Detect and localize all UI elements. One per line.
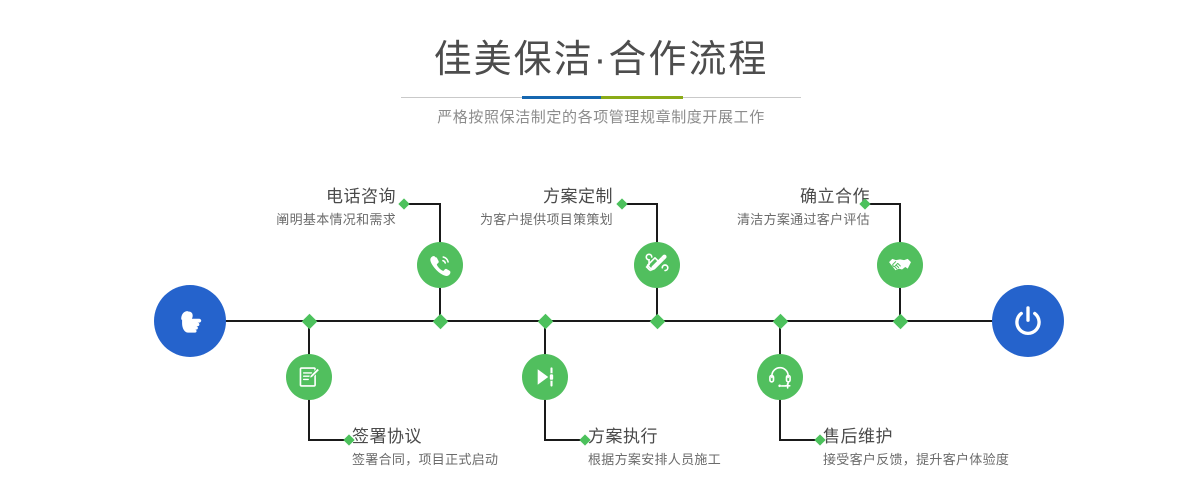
step-1-connector-horizontal [406, 203, 440, 205]
axis-marker-2 [432, 313, 448, 329]
step-6-title: 售后维护 [823, 426, 1009, 448]
document-sign-icon [296, 364, 322, 390]
step-4-title: 方案执行 [588, 426, 721, 448]
step-3-label: 方案定制 为客户提供项目策策划 [480, 186, 613, 231]
page-title: 佳美保洁·合作流程 [0, 36, 1202, 84]
timeline-start-endpoint[interactable] [154, 285, 226, 357]
step-5-title: 确立合作 [737, 186, 870, 208]
step-1-label-marker [398, 198, 409, 209]
page-subtitle: 严格按照保洁制定的各项管理规章制度开展工作 [0, 106, 1202, 130]
step-1-icon-node[interactable] [417, 242, 463, 288]
step-6-desc: 接受客户反馈，提升客户体验度 [823, 449, 1009, 471]
divider-accent-blue [522, 96, 601, 99]
step-1-desc: 阐明基本情况和需求 [276, 209, 396, 231]
step-2-title: 签署协议 [352, 426, 498, 448]
step-4-desc: 根据方案安排人员施工 [588, 449, 721, 471]
step-5-desc: 清洁方案通过客户评估 [737, 209, 870, 231]
timeline-end-endpoint[interactable] [992, 285, 1064, 357]
play-execute-icon [532, 364, 558, 390]
step-6-connector-horizontal [779, 439, 819, 441]
step-4-label: 方案执行 根据方案安排人员施工 [588, 426, 721, 471]
step-3-title: 方案定制 [480, 186, 613, 208]
step-4-connector-horizontal [544, 439, 584, 441]
title-divider [401, 96, 801, 99]
axis-marker-3 [537, 313, 553, 329]
step-4-icon-node[interactable] [522, 354, 568, 400]
step-5-label: 确立合作 清洁方案通过客户评估 [737, 186, 870, 231]
step-3-icon-node[interactable] [634, 242, 680, 288]
axis-marker-1 [301, 313, 317, 329]
step-3-connector-horizontal [624, 203, 657, 205]
power-icon [1009, 302, 1047, 340]
step-1-label: 电话咨询 阐明基本情况和需求 [276, 186, 396, 231]
divider-accent-green [601, 96, 683, 99]
pencil-ruler-icon [644, 252, 670, 278]
axis-marker-4 [649, 313, 665, 329]
flowchart-page: 佳美保洁·合作流程 严格按照保洁制定的各项管理规章制度开展工作 [0, 0, 1202, 502]
step-3-desc: 为客户提供项目策策划 [480, 209, 613, 231]
headset-support-icon [767, 364, 793, 390]
pointing-hand-icon [171, 302, 209, 340]
axis-marker-6 [892, 313, 908, 329]
step-6-label: 售后维护 接受客户反馈，提升客户体验度 [823, 426, 1009, 471]
phone-call-icon [427, 252, 453, 278]
step-2-desc: 签署合同，项目正式启动 [352, 449, 498, 471]
step-5-connector-horizontal [867, 203, 900, 205]
step-1-title: 电话咨询 [276, 186, 396, 208]
step-2-label: 签署协议 签署合同，项目正式启动 [352, 426, 498, 471]
axis-marker-5 [772, 313, 788, 329]
step-6-icon-node[interactable] [757, 354, 803, 400]
handshake-icon [887, 252, 913, 278]
step-5-icon-node[interactable] [877, 242, 923, 288]
step-3-label-marker [616, 198, 627, 209]
step-2-icon-node[interactable] [286, 354, 332, 400]
step-2-connector-horizontal [308, 439, 348, 441]
